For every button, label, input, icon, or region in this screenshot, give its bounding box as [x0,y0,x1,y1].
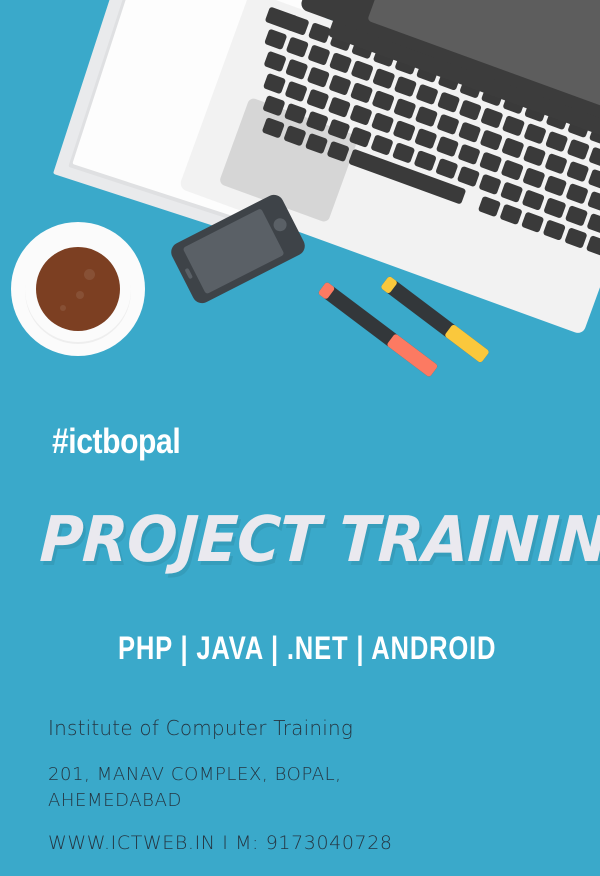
laptop-key [502,115,525,137]
coffee-bubble-icon [60,305,66,311]
laptop-key [521,211,544,233]
laptop-key [327,119,350,141]
poster-canvas: #ictbopal PROJECT TRAINING PHP | JAVA | … [0,0,600,876]
laptop-key [284,81,307,103]
laptop-key [544,175,567,197]
website-phone-text: WWW.ICTWEB.IN I M: 9173040728 [48,832,393,854]
laptop-key [567,139,590,161]
coffee-bubble-icon [84,269,95,280]
laptop-key [263,51,286,73]
laptop-key [480,107,503,129]
laptop-key [350,82,373,104]
laptop-key [414,150,437,172]
laptop-key [543,219,566,241]
pen-grip [444,324,490,364]
laptop-key [328,96,351,118]
laptop-key [566,161,589,183]
laptop-key [305,133,328,155]
laptop-key [436,136,459,158]
laptop-key [372,68,395,90]
laptop-key [394,76,417,98]
laptop-key [414,128,437,150]
laptop-key [328,74,351,96]
laptop-key [564,227,587,249]
laptop-key [480,129,503,151]
phone-home-button-icon [271,216,288,233]
hashtag-text: #ictbopal [52,422,180,462]
laptop-key [586,235,600,257]
laptop-key [415,84,438,106]
laptop-key [565,183,588,205]
laptop-key [437,91,460,113]
laptop-key [435,158,458,180]
laptop-key [436,114,459,136]
laptop-key [262,117,285,139]
laptop-key [372,90,395,112]
laptop-key [349,126,372,148]
laptop-key [305,111,328,133]
pen-grip [386,333,438,377]
laptop-key [478,196,501,218]
desk-illustration [0,0,600,440]
laptop-key [371,112,394,134]
coffee-bubble-icon [76,291,84,299]
laptop-key [264,29,287,51]
organisation-name: Institute of Computer Training [48,716,353,740]
laptop-key [523,145,546,167]
laptop-key [263,73,286,95]
laptop-key [392,142,415,164]
laptop-key [262,95,285,117]
laptop-key [349,104,372,126]
laptop-key [351,60,374,82]
laptop-key [543,197,566,219]
laptop-key [501,159,524,181]
laptop-key [458,121,481,143]
laptop-key [285,59,308,81]
laptop-key [479,151,502,173]
laptop-key [565,205,588,227]
laptop-key [329,52,352,74]
laptop-key [393,120,416,142]
laptop-key [545,131,568,153]
coffee-liquid-icon [36,247,120,331]
laptop-key [286,14,309,36]
laptop-key [307,44,330,66]
laptop-key [544,153,567,175]
laptop-key [415,106,438,128]
laptop-key [457,144,480,166]
laptop-key [370,134,393,156]
laptop-key [306,89,329,111]
pen-coral-icon [318,281,439,377]
laptop-key [307,66,330,88]
laptop-key [284,103,307,125]
laptop-key [522,189,545,211]
address-text: 201, MANAV COMPLEX, BOPAL, AHEMEDABAD [48,762,342,814]
laptop-key [499,204,522,226]
course-list-text: PHP | JAVA | .NET | ANDROID [118,630,496,667]
laptop-key [459,99,482,121]
laptop-key [478,174,501,196]
laptop-key [523,123,546,145]
laptop-key [587,191,600,213]
laptop-key [283,125,306,147]
laptop-key [588,169,600,191]
laptop-key [586,213,600,235]
phone-speaker-icon [184,268,193,280]
laptop-key [393,98,416,120]
laptop-key [501,137,524,159]
page-title: PROJECT TRAINING [38,503,600,576]
laptop-key [500,181,523,203]
laptop-key [457,166,480,188]
laptop-key [326,141,349,163]
laptop-key [522,167,545,189]
laptop-key [588,147,600,169]
laptop-key [286,36,309,58]
